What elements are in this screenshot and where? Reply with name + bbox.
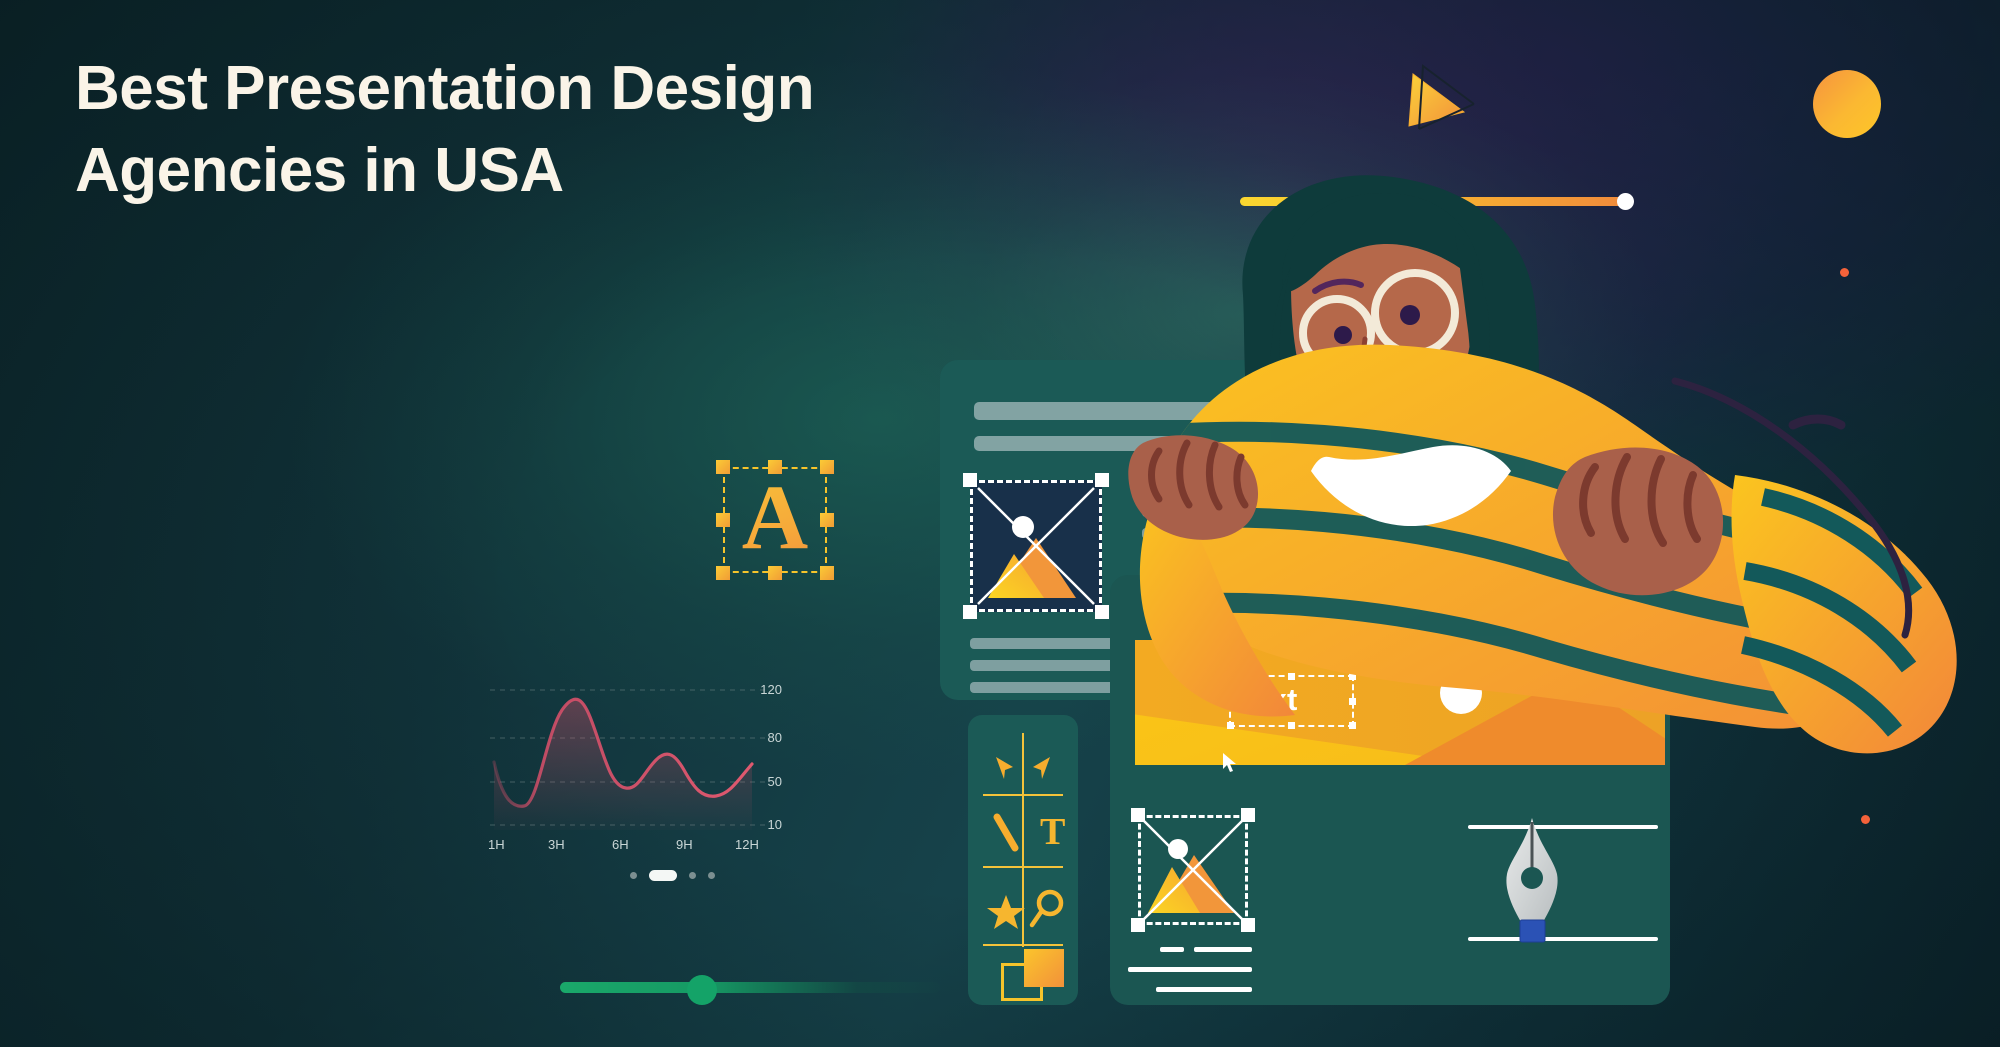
x-tick-label: 3H	[548, 837, 565, 852]
paper-plane-icon	[1400, 62, 1480, 144]
cursor-right-icon	[1033, 757, 1050, 779]
resize-handle-top-right[interactable]	[1095, 473, 1109, 487]
resize-handle-middle-right[interactable]	[820, 513, 834, 527]
eye-left	[1334, 326, 1352, 344]
resize-handle-bottom-right[interactable]	[1241, 918, 1255, 932]
x-tick-label: 1H	[488, 837, 505, 852]
headline-line-1: Best Presentation Design	[75, 54, 814, 123]
shape-filled-icon[interactable]	[1024, 949, 1064, 987]
text-object-selection[interactable]: A	[723, 467, 827, 573]
activity-line-chart: 120 80 50 10 1H 3H 6H 9H 12H	[480, 660, 780, 850]
x-tick-label: 6H	[612, 837, 629, 852]
gradient-circle-icon	[1813, 70, 1881, 138]
headline-line-2: Agencies in USA	[75, 130, 955, 212]
slider-knob[interactable]	[687, 975, 717, 1005]
placeholder-line	[970, 682, 1120, 693]
page-title: Best Presentation Design Agencies in USA	[75, 48, 955, 212]
resize-handle-bottom-left[interactable]	[963, 605, 977, 619]
y-tick-label: 50	[748, 774, 782, 789]
y-tick-label: 80	[748, 730, 782, 745]
resize-handle-bottom-right[interactable]	[1095, 605, 1109, 619]
resize-handle-middle-left[interactable]	[716, 513, 730, 527]
star-icon	[987, 895, 1025, 929]
resize-handle-top-left[interactable]	[963, 473, 977, 487]
resize-handle-bottom-left[interactable]	[1131, 918, 1145, 932]
pagination-dot[interactable]	[708, 872, 715, 879]
placeholder-line	[1128, 967, 1252, 972]
slider-track[interactable]	[560, 982, 940, 993]
pagination-dot[interactable]	[689, 872, 696, 879]
placeholder-line	[1160, 947, 1184, 952]
resize-handle-top-center[interactable]	[768, 460, 782, 474]
glasses-bridge	[1369, 321, 1379, 325]
illustration-canvas: Best Presentation Design Agencies in USA	[0, 0, 2000, 1047]
cursor-left-icon	[996, 757, 1013, 779]
design-toolbar[interactable]: T	[968, 715, 1078, 1005]
pagination-dot-active[interactable]	[649, 870, 677, 881]
x-tick-label: 12H	[735, 837, 759, 852]
x-tick-label: 9H	[676, 837, 693, 852]
resize-handle-bottom-right[interactable]	[820, 566, 834, 580]
text-icon[interactable]: T	[1040, 813, 1065, 851]
y-tick-label: 10	[748, 817, 782, 832]
y-tick-label: 120	[748, 682, 782, 697]
line-icon	[997, 817, 1015, 848]
image-placeholder-selected[interactable]	[970, 480, 1102, 612]
resize-handle-bottom-center[interactable]	[768, 566, 782, 580]
pen-tip	[1793, 419, 1841, 425]
selection-outline	[970, 480, 1102, 612]
placeholder-line	[1156, 987, 1252, 992]
resize-handle-bottom-left[interactable]	[716, 566, 730, 580]
carousel-pagination[interactable]	[630, 870, 715, 881]
resize-handle-top-left[interactable]	[716, 460, 730, 474]
placeholder-line	[970, 660, 1120, 671]
letter-a-glyph: A	[723, 467, 827, 573]
zoom-slider[interactable]	[560, 975, 940, 999]
placeholder-line	[1194, 947, 1252, 952]
resize-handle-top-right[interactable]	[820, 460, 834, 474]
pagination-dot[interactable]	[630, 872, 637, 879]
illustration-character	[1115, 175, 2000, 875]
eye-right	[1400, 305, 1420, 325]
placeholder-line	[970, 638, 1120, 649]
